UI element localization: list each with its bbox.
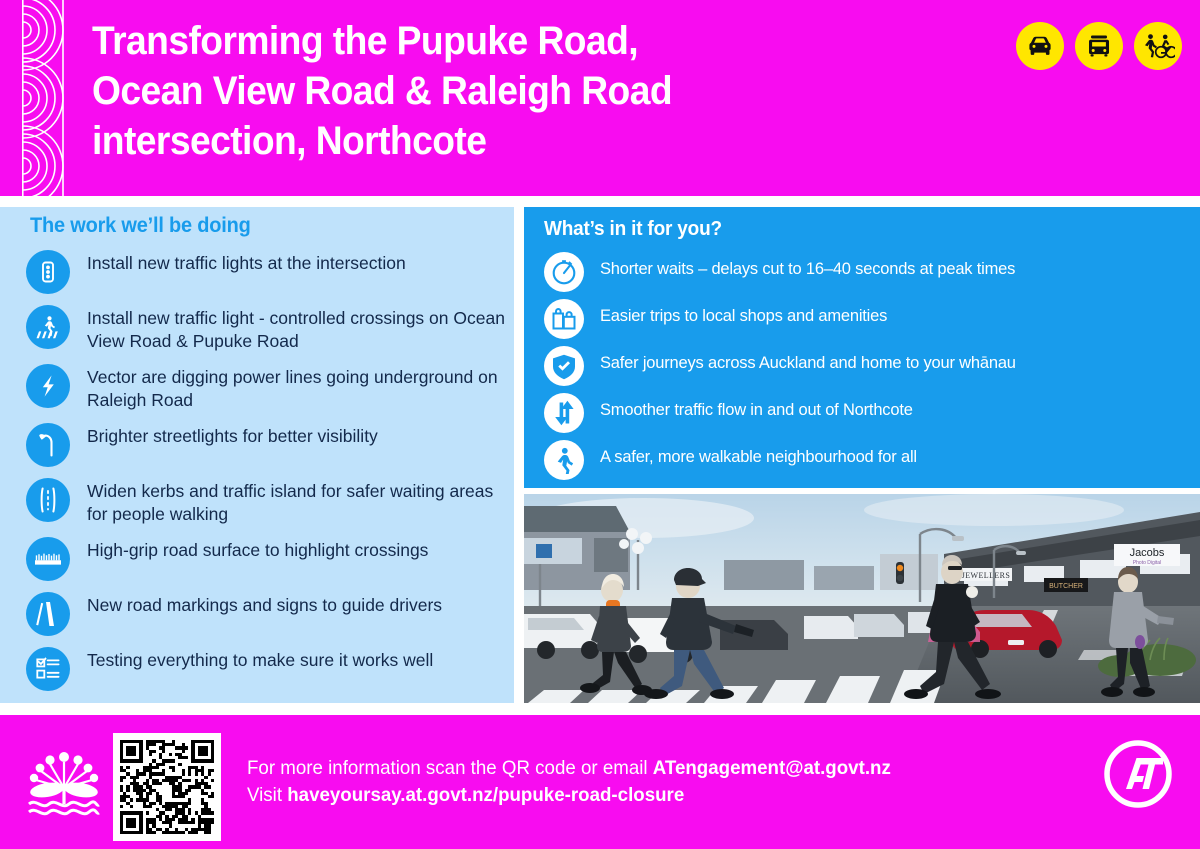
auckland-transport-logo bbox=[1100, 736, 1176, 812]
list-item-label: Widen kerbs and traffic island for safer… bbox=[87, 478, 506, 526]
poster-root: Transforming the Pupuke Road, Ocean View… bbox=[0, 0, 1200, 849]
footer-contact-text: For more information scan the QR code or… bbox=[247, 755, 1034, 809]
road-surface-icon bbox=[26, 537, 70, 581]
work-items-list: Install new traffic lights at the inters… bbox=[26, 250, 506, 691]
svg-text:JEWELLERS: JEWELLERS bbox=[962, 571, 1010, 580]
auckland-council-logo bbox=[25, 740, 103, 818]
svg-text:Photo Digital: Photo Digital bbox=[1133, 560, 1161, 566]
koru-pattern-decoration bbox=[22, 0, 64, 196]
list-item-label: Vector are digging power lines going und… bbox=[87, 364, 506, 412]
list-item-label: A safer, more walkable neighbourhood for… bbox=[600, 440, 917, 468]
footer-line-2: Visit haveyoursay.at.govt.nz/pupuke-road… bbox=[247, 782, 1034, 809]
contact-email[interactable]: ATengagement@at.govt.nz bbox=[653, 757, 891, 779]
list-item: New road markings and signs to guide dri… bbox=[26, 592, 506, 636]
website-url[interactable]: haveyoursay.at.govt.nz/pupuke-road-closu… bbox=[287, 784, 684, 806]
work-section-heading: The work we’ll be doing bbox=[30, 214, 251, 238]
list-item: Vector are digging power lines going und… bbox=[26, 364, 506, 412]
qr-code-pattern bbox=[120, 740, 214, 834]
page-title-line-1: Transforming the Pupuke Road, bbox=[92, 16, 910, 66]
footer-line-2-prefix: Visit bbox=[247, 784, 287, 806]
benefits-section-heading: What’s in it for you? bbox=[544, 218, 722, 241]
list-item-label: Brighter streetlights for better visibil… bbox=[87, 423, 378, 448]
list-item: Smoother traffic flow in and out of Nort… bbox=[544, 393, 1184, 433]
list-item: Testing everything to make sure it works… bbox=[26, 647, 506, 691]
stopwatch-icon bbox=[544, 252, 584, 292]
bus-icon bbox=[1075, 22, 1123, 70]
list-item-label: Install new traffic light - controlled c… bbox=[87, 305, 506, 353]
walk-cycle-icon bbox=[1134, 22, 1182, 70]
list-item: Install new traffic light - controlled c… bbox=[26, 305, 506, 353]
list-item: Shorter waits – delays cut to 16–40 seco… bbox=[544, 252, 1184, 292]
two-way-arrows-icon bbox=[544, 393, 584, 433]
list-item-label: New road markings and signs to guide dri… bbox=[87, 592, 442, 617]
list-item-label: Install new traffic lights at the inters… bbox=[87, 250, 406, 275]
footer-line-1: For more information scan the QR code or… bbox=[247, 755, 1034, 782]
list-item: A safer, more walkable neighbourhood for… bbox=[544, 440, 1184, 480]
street-crossing-photo: JEWELLERS Jacobs Photo Digital BUTCHER bbox=[524, 494, 1200, 703]
list-item-label: Shorter waits – delays cut to 16–40 seco… bbox=[600, 252, 1015, 280]
pedestrian-crossing-icon bbox=[26, 305, 70, 349]
list-item-label: Smoother traffic flow in and out of Nort… bbox=[600, 393, 913, 421]
page-title-line-2: Ocean View Road & Raleigh Road bbox=[92, 66, 910, 116]
walking-person-icon bbox=[544, 440, 584, 480]
benefit-items-list: Shorter waits – delays cut to 16–40 seco… bbox=[544, 252, 1184, 480]
list-item: Install new traffic lights at the inters… bbox=[26, 250, 506, 294]
checklist-icon bbox=[26, 647, 70, 691]
list-item-label: Safer journeys across Auckland and home … bbox=[600, 346, 1016, 374]
list-item-label: Easier trips to local shops and amenitie… bbox=[600, 299, 887, 327]
shopping-bags-icon bbox=[544, 299, 584, 339]
svg-text:BUTCHER: BUTCHER bbox=[1049, 583, 1083, 590]
list-item: High-grip road surface to highlight cros… bbox=[26, 537, 506, 581]
road-markings-icon bbox=[26, 592, 70, 636]
list-item: Safer journeys across Auckland and home … bbox=[544, 346, 1184, 386]
list-item-label: Testing everything to make sure it works… bbox=[87, 647, 433, 672]
list-item: Easier trips to local shops and amenitie… bbox=[544, 299, 1184, 339]
list-item: Brighter streetlights for better visibil… bbox=[26, 423, 506, 467]
traffic-light-icon bbox=[26, 250, 70, 294]
qr-code[interactable] bbox=[113, 733, 221, 841]
svg-text:Jacobs: Jacobs bbox=[1130, 547, 1165, 559]
list-item-label: High-grip road surface to highlight cros… bbox=[87, 537, 428, 562]
header-banner: Transforming the Pupuke Road, Ocean View… bbox=[0, 0, 1200, 196]
footer-line-1-prefix: For more information scan the QR code or… bbox=[247, 757, 653, 779]
streetlight-icon bbox=[26, 423, 70, 467]
transport-mode-icon-group bbox=[1016, 22, 1182, 70]
kerb-island-icon bbox=[26, 478, 70, 522]
page-title: Transforming the Pupuke Road, Ocean View… bbox=[92, 16, 910, 166]
car-icon bbox=[1016, 22, 1064, 70]
list-item: Widen kerbs and traffic island for safer… bbox=[26, 478, 506, 526]
page-title-line-3: intersection, Northcote bbox=[92, 116, 910, 166]
shield-check-icon bbox=[544, 346, 584, 386]
lightning-bolt-icon bbox=[26, 364, 70, 408]
